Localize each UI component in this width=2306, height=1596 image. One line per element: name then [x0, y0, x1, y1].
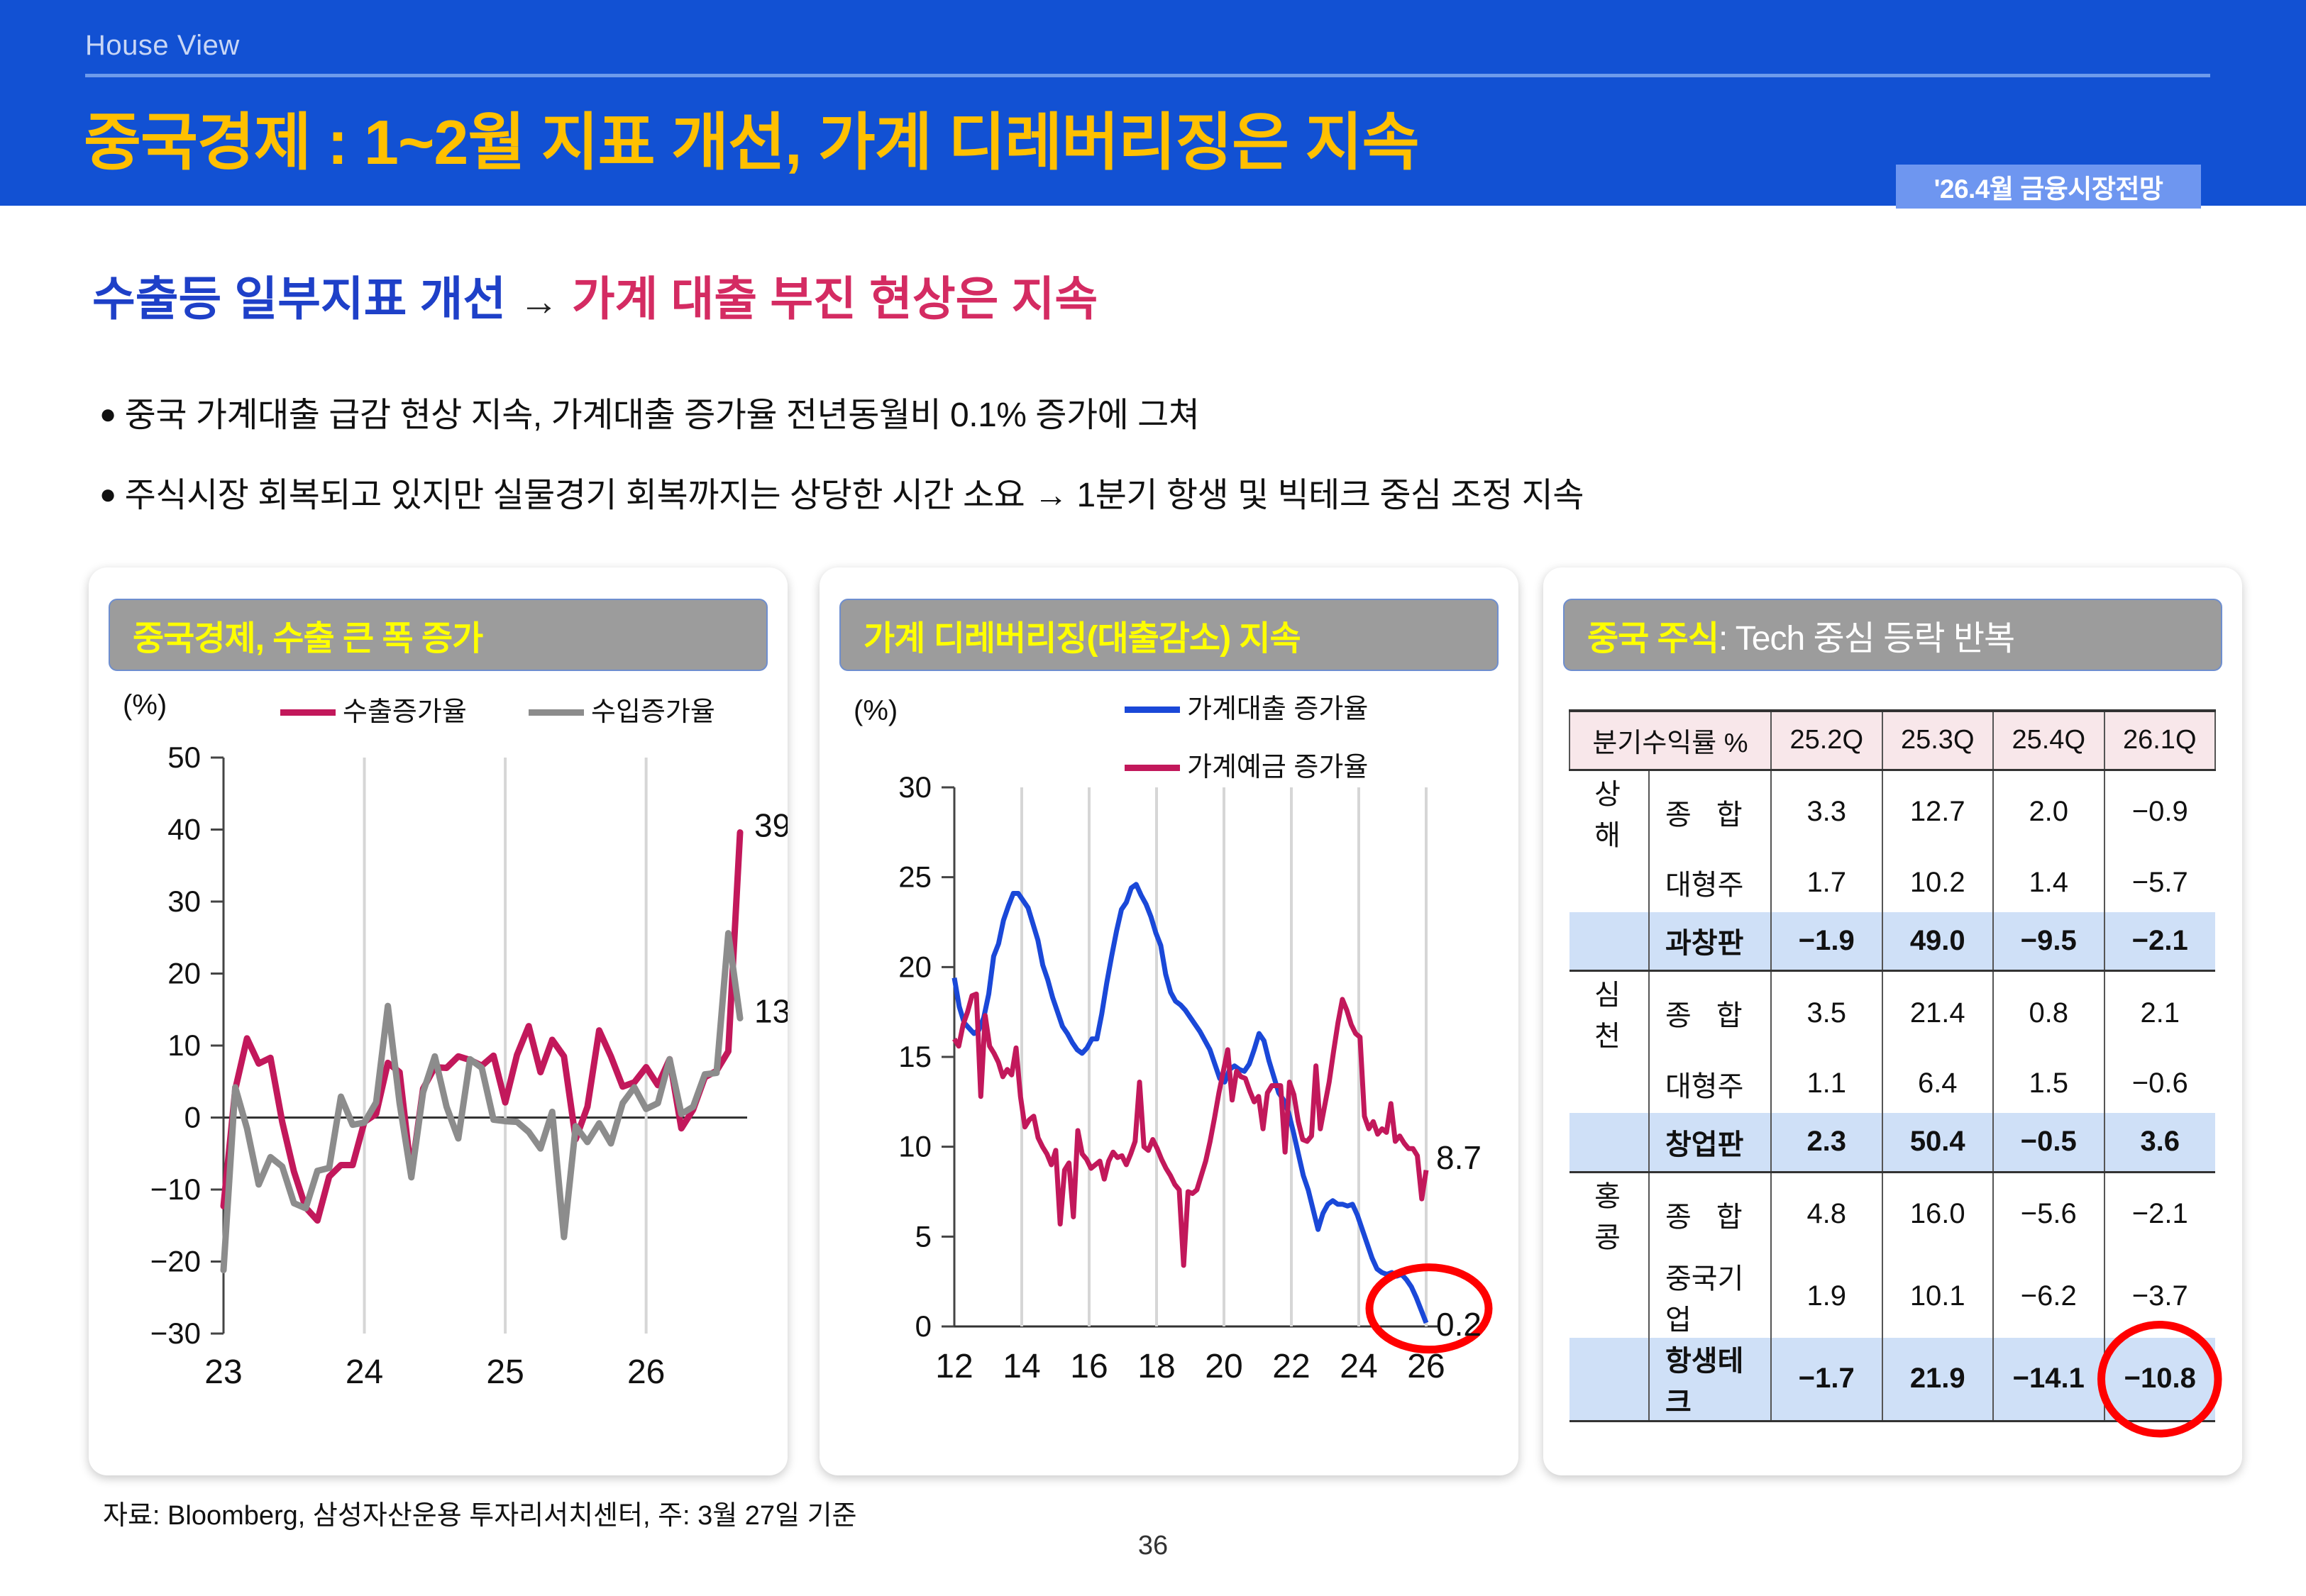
unit-label: (%): [854, 695, 898, 727]
row-name: 종 합: [1649, 1172, 1771, 1256]
table-row: 중국기업1.910.1−6.2−3.7: [1569, 1256, 2215, 1338]
panel-title-china-equity: 중국 주식: Tech 중심 등락 반복: [1563, 599, 2222, 671]
table-cell: −1.9: [1771, 912, 1882, 971]
unit-label: (%): [123, 689, 167, 721]
svg-text:22: 22: [1272, 1348, 1310, 1385]
table-row: 항생테크−1.721.9−14.1−10.8: [1569, 1338, 2215, 1422]
row-name: 종 합: [1649, 770, 1771, 853]
table-cell: −5.7: [2104, 853, 2216, 912]
row-group-label: [1569, 1256, 1649, 1338]
table-cell: 1.1: [1771, 1054, 1882, 1113]
row-name: 과창판: [1649, 912, 1771, 971]
table-cell: −2.1: [2104, 1172, 2216, 1256]
source-note: 자료: Bloomberg, 삼성자산운용 투자리서치센터, 주: 3월 27일…: [103, 1493, 857, 1532]
table-cell: 10.2: [1882, 853, 1994, 912]
row-group-label: [1569, 1338, 1649, 1422]
legend-household-deposit: 가계예금 증가율: [1125, 745, 1368, 784]
table-cell: 4.8: [1771, 1172, 1882, 1256]
chart-panel-exports: 중국경제, 수출 큰 폭 증가 (%) 수출증가율 수입증가율 50403020…: [89, 567, 788, 1475]
panel-title-main: 중국 주식: [1587, 610, 1719, 660]
chart-panel-deleveraging: 가계 디레버리징(대출감소) 지속 (%) 가계대출 증가율 가계예금 증가율 …: [820, 567, 1518, 1475]
row-group-label: [1569, 912, 1649, 971]
svg-text:0: 0: [184, 1101, 201, 1134]
table-cell: −0.5: [1993, 1113, 2104, 1172]
svg-text:23: 23: [204, 1353, 242, 1391]
table-cell: −5.6: [1993, 1172, 2104, 1256]
table-cell: 2.3: [1771, 1113, 1882, 1172]
legend-export: 수출증가율: [280, 689, 467, 728]
header-divider: [85, 74, 2210, 77]
page-title: 중국경제 : 1~2월 지표 개선, 가계 디레버리징은 지속: [84, 92, 1418, 182]
svg-text:30: 30: [167, 885, 201, 918]
panel-title-deleveraging: 가계 디레버리징(대출감소) 지속: [839, 599, 1499, 671]
table-cell: −10.8: [2104, 1338, 2216, 1422]
col-header-q3: 25.4Q: [1993, 711, 2104, 770]
table-cell: 3.5: [1771, 971, 1882, 1055]
panel-title-exports: 중국경제, 수출 큰 폭 증가: [109, 599, 768, 671]
row-name: 종 합: [1649, 971, 1771, 1055]
svg-text:20: 20: [1205, 1348, 1242, 1385]
table-cell: 3.6: [2104, 1113, 2216, 1172]
svg-text:30: 30: [898, 770, 932, 804]
table-row: 대형주1.16.41.5−0.6: [1569, 1054, 2215, 1113]
col-header-q1: 25.2Q: [1771, 711, 1882, 770]
svg-text:25: 25: [898, 860, 932, 894]
svg-text:13.8: 13.8: [754, 992, 788, 1029]
col-header-q4: 26.1Q: [2104, 711, 2216, 770]
table-row: 창업판2.350.4−0.53.6: [1569, 1113, 2215, 1172]
subhead-left: 수출등 일부지표 개선: [92, 272, 506, 325]
table-row: 과창판−1.949.0−9.5−2.1: [1569, 912, 2215, 971]
legend-swatch-icon: [1125, 706, 1180, 713]
row-name: 창업판: [1649, 1113, 1771, 1172]
row-group-label: [1569, 1054, 1649, 1113]
svg-text:25: 25: [486, 1353, 524, 1391]
legend-label: 수입증가율: [591, 697, 715, 727]
table-cell: −0.9: [2104, 770, 2216, 853]
table-cell: 21.9: [1882, 1338, 1994, 1422]
table-cell: −6.2: [1993, 1256, 2104, 1338]
svg-text:10: 10: [167, 1029, 201, 1062]
table-cell: −3.7: [2104, 1256, 2216, 1338]
bullet-dot-icon: ●: [99, 399, 116, 430]
bullet-text: 중국 가계대출 급감 현상 지속, 가계대출 증가율 전년동월비 0.1% 증가…: [125, 397, 1200, 434]
svg-text:24: 24: [1340, 1348, 1377, 1385]
eyebrow-house-view: House View: [85, 30, 240, 62]
svg-text:10: 10: [898, 1130, 932, 1163]
status-badge: '26.4월 금융시장전망: [1896, 165, 2201, 209]
bullet-item: ●중국 가계대출 급감 현상 지속, 가계대출 증가율 전년동월비 0.1% 증…: [99, 387, 1199, 436]
legend-import: 수입증가율: [529, 689, 715, 728]
table-cell: −9.5: [1993, 912, 2104, 971]
row-name: 대형주: [1649, 853, 1771, 912]
table-cell: 12.7: [1882, 770, 1994, 853]
section-subhead: 수출등 일부지표 개선 → 가계 대출 부진 현상은 지속: [92, 261, 1098, 329]
svg-text:5: 5: [915, 1219, 932, 1253]
bullet-text: 주식시장 회복되고 있지만 실물경기 회복까지는 상당한 시간 소요 → 1분기…: [125, 477, 1584, 514]
svg-text:−30: −30: [150, 1317, 201, 1350]
svg-text:−10: −10: [150, 1173, 201, 1206]
table-cell: 6.4: [1882, 1054, 1994, 1113]
table-row: 심 천종 합3.521.40.82.1: [1569, 971, 2215, 1055]
table-cell: 1.4: [1993, 853, 2104, 912]
svg-text:40: 40: [167, 813, 201, 846]
svg-text:14: 14: [1003, 1348, 1040, 1385]
table-cell: −1.7: [1771, 1338, 1882, 1422]
arrow-icon: →: [519, 279, 559, 323]
legend-swatch-icon: [280, 709, 336, 716]
svg-text:39.6: 39.6: [754, 807, 788, 844]
svg-text:8.7: 8.7: [1436, 1139, 1482, 1176]
col-header-metric: 분기수익률 %: [1569, 711, 1771, 770]
legend-label: 가계대출 증가율: [1187, 694, 1368, 724]
svg-text:16: 16: [1070, 1348, 1108, 1385]
subhead-right: 가계 대출 부진 현상은 지속: [572, 272, 1098, 325]
row-group-label: [1569, 1113, 1649, 1172]
legend-swatch-icon: [1125, 765, 1180, 771]
row-group-label: [1569, 853, 1649, 912]
col-header-q2: 25.3Q: [1882, 711, 1994, 770]
table-row: 홍 콩종 합4.816.0−5.6−2.1: [1569, 1172, 2215, 1256]
table-panel-china-equity: 중국 주식: Tech 중심 등락 반복 분기수익률 % 25.2Q 25.3Q…: [1543, 567, 2242, 1475]
legend-label: 수출증가율: [343, 697, 467, 727]
bullet-item: ●주식시장 회복되고 있지만 실물경기 회복까지는 상당한 시간 소요 → 1분…: [99, 467, 1584, 516]
legend-household-loan: 가계대출 증가율: [1125, 687, 1368, 726]
svg-text:0: 0: [915, 1309, 932, 1343]
svg-text:20: 20: [167, 957, 201, 990]
svg-text:20: 20: [898, 950, 932, 983]
svg-text:24: 24: [346, 1353, 383, 1391]
table-cell: 16.0: [1882, 1172, 1994, 1256]
svg-text:18: 18: [1137, 1348, 1175, 1385]
table-cell: 1.7: [1771, 853, 1882, 912]
line-chart-exports: 50403020100−10−20−302324252639.613.8: [89, 674, 788, 1468]
table-row: 상 해종 합3.312.72.0−0.9: [1569, 770, 2215, 853]
chart-area-deleveraging: (%) 가계대출 증가율 가계예금 증가율 302520151050121416…: [820, 674, 1518, 1468]
table-cell: 50.4: [1882, 1113, 1994, 1172]
table-cell: 0.8: [1993, 971, 2104, 1055]
table-cell: −2.1: [2104, 912, 2216, 971]
bullet-dot-icon: ●: [99, 479, 116, 510]
svg-text:12: 12: [935, 1348, 973, 1385]
table-cell: −0.6: [2104, 1054, 2216, 1113]
legend-label: 가계예금 증가율: [1187, 753, 1368, 782]
line-chart-deleveraging: 30252015105012141618202224260.28.7: [820, 674, 1518, 1468]
chart-area-exports: (%) 수출증가율 수입증가율 50403020100−10−20−302324…: [89, 674, 788, 1468]
table-cell: −14.1: [1993, 1338, 2104, 1422]
page-number: 36: [0, 1531, 2306, 1561]
panel-title-sub: : Tech 중심 등락 반복: [1719, 610, 2014, 660]
svg-text:50: 50: [167, 741, 201, 774]
table-cell: 1.9: [1771, 1256, 1882, 1338]
row-name: 대형주: [1649, 1054, 1771, 1113]
row-group-label: 홍 콩: [1569, 1172, 1649, 1256]
table-cell: 1.5: [1993, 1054, 2104, 1113]
row-name: 중국기업: [1649, 1256, 1771, 1338]
legend-swatch-icon: [529, 709, 584, 716]
table-header-row: 분기수익률 % 25.2Q 25.3Q 25.4Q 26.1Q: [1569, 711, 2215, 770]
svg-text:26: 26: [627, 1353, 665, 1391]
table-cell: 49.0: [1882, 912, 1994, 971]
table-cell: 10.1: [1882, 1256, 1994, 1338]
quarterly-return-table: 분기수익률 % 25.2Q 25.3Q 25.4Q 26.1Q 상 해종 합3.…: [1569, 709, 2216, 1422]
svg-text:−20: −20: [150, 1245, 201, 1278]
table-row: 대형주1.710.21.4−5.7: [1569, 853, 2215, 912]
row-name: 항생테크: [1649, 1338, 1771, 1422]
row-group-label: 상 해: [1569, 770, 1649, 853]
svg-text:0.2: 0.2: [1436, 1306, 1482, 1343]
slide: House View 중국경제 : 1~2월 지표 개선, 가계 디레버리징은 …: [0, 0, 2306, 1596]
table-cell: 2.0: [1993, 770, 2104, 853]
table-cell: 21.4: [1882, 971, 1994, 1055]
table-cell: 3.3: [1771, 770, 1882, 853]
table-cell: 2.1: [2104, 971, 2216, 1055]
svg-text:15: 15: [898, 1040, 932, 1073]
row-group-label: 심 천: [1569, 971, 1649, 1055]
